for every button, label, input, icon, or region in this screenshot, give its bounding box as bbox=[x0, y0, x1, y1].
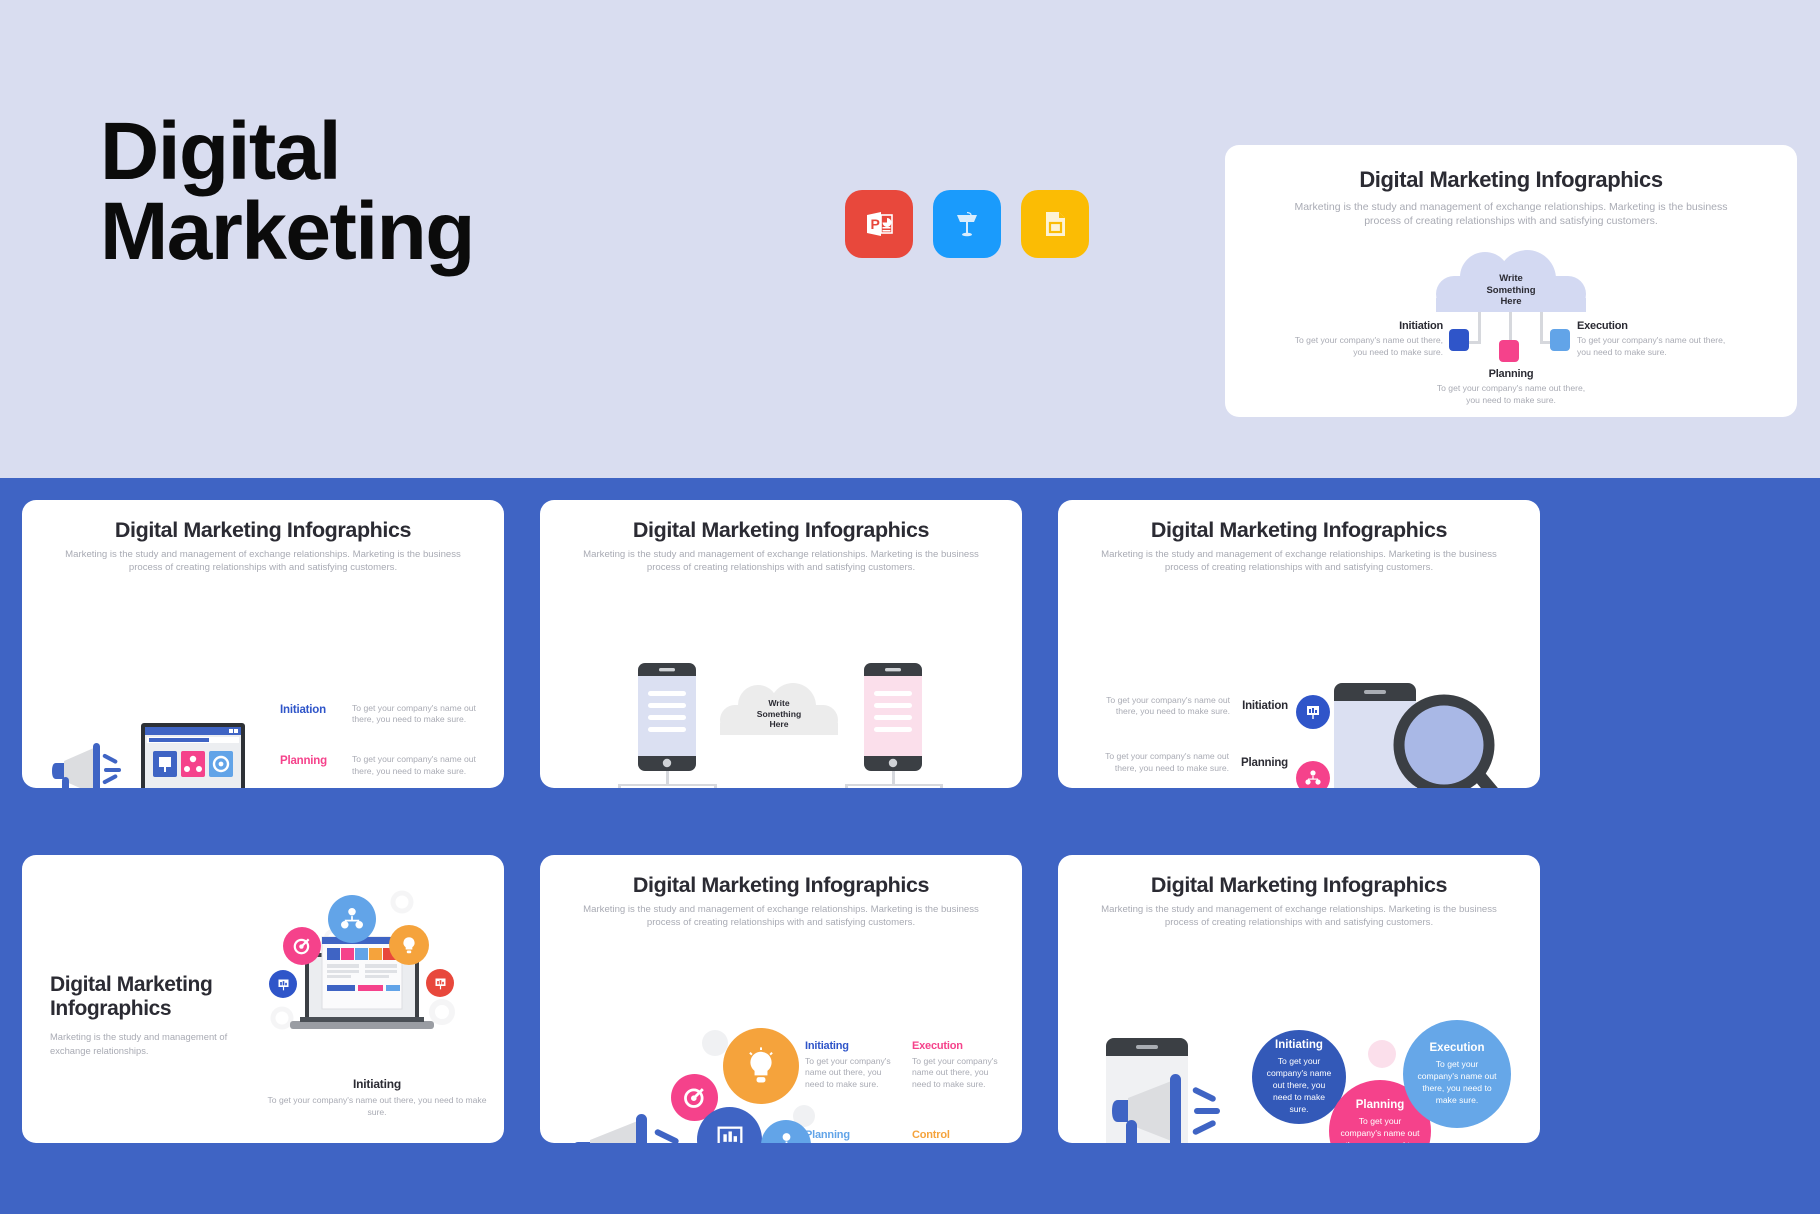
card4-title-line1: Digital Marketing bbox=[50, 973, 260, 997]
cell-label: Initiating bbox=[805, 1040, 898, 1052]
presentation-icon bbox=[426, 969, 454, 997]
bubble-label: Execution bbox=[1430, 1042, 1485, 1054]
phone-magnifier-illustration bbox=[1334, 675, 1509, 788]
row-desc: To get your company's name out there, yo… bbox=[352, 754, 495, 777]
node-desc: To get your company's name out there, yo… bbox=[1285, 335, 1443, 358]
card-title: Digital Marketing Infographics bbox=[22, 518, 504, 543]
card-title: Digital Marketing Infographics bbox=[1058, 518, 1540, 543]
cell-execution: Execution To get your company's name out… bbox=[912, 1040, 1005, 1091]
cell-label: Execution bbox=[912, 1040, 1005, 1052]
cloud-text-line3: Here bbox=[1500, 296, 1521, 308]
node-initiation: Initiation To get your company's name ou… bbox=[1285, 320, 1443, 358]
page-title-line1: Digital bbox=[100, 112, 720, 192]
connector-drop-left-1 bbox=[618, 784, 621, 788]
svg-text:P: P bbox=[871, 216, 880, 232]
card-title: Digital Marketing Infographics bbox=[540, 518, 1022, 543]
card4-footer: Initiating To get your company's name ou… bbox=[262, 1077, 492, 1118]
node-planning: Planning To get your company's name out … bbox=[1429, 368, 1593, 406]
phone-blue-illustration bbox=[638, 663, 696, 776]
infographic-card-1[interactable]: Digital Marketing Infographics Marketing… bbox=[22, 500, 504, 788]
cell-label: Planning bbox=[805, 1129, 898, 1141]
cloud-text-line3: Here bbox=[769, 719, 788, 730]
node-square-execution bbox=[1550, 329, 1570, 351]
row-planning: To get your company's name out there, yo… bbox=[1088, 751, 1288, 774]
cloud-text-line1: Write bbox=[768, 698, 789, 709]
infographic-card-4[interactable]: Digital Marketing Infographics Marketing… bbox=[22, 855, 504, 1143]
row-label: Planning bbox=[1241, 757, 1288, 769]
presentation-icon bbox=[1296, 695, 1330, 729]
org-chart-icon bbox=[1296, 761, 1330, 788]
row-desc: To get your company's name out there, yo… bbox=[1088, 695, 1230, 718]
bubble-label: Planning bbox=[1356, 1099, 1405, 1111]
deco-dot bbox=[702, 1030, 728, 1056]
cloud-text-line1: Write bbox=[1499, 273, 1523, 285]
card-subtitle: Marketing is the study and management of… bbox=[22, 549, 504, 575]
bubble-label: Initiating bbox=[1275, 1039, 1323, 1051]
footer-desc: To get your company's name out there, yo… bbox=[262, 1095, 492, 1118]
row-desc: To get your company's name out there, yo… bbox=[352, 703, 495, 726]
card5-cells: Initiating To get your company's name ou… bbox=[805, 1040, 1005, 1143]
row-label: Initiation bbox=[280, 703, 352, 716]
laptop-illustration bbox=[127, 723, 262, 788]
bubble-initiating[interactable]: Initiating To get your company's name ou… bbox=[1252, 1030, 1346, 1124]
infographic-card-3[interactable]: Digital Marketing Infographics Marketing… bbox=[1058, 500, 1540, 788]
app-format-icons: P bbox=[845, 190, 1089, 258]
card-title: Digital Marketing Infographics bbox=[540, 873, 1022, 898]
card-subtitle: Marketing is the study and management of… bbox=[540, 549, 1022, 575]
cloud-text-line2: Something bbox=[1486, 285, 1535, 297]
card4-subtitle: Marketing is the study and management of… bbox=[50, 1030, 240, 1057]
keynote-icon[interactable] bbox=[933, 190, 1001, 258]
infographic-card-6[interactable]: Digital Marketing Infographics Marketing… bbox=[1058, 855, 1540, 1143]
node-square-initiation bbox=[1449, 329, 1469, 351]
connector-drop-right-2 bbox=[940, 784, 943, 788]
megaphone-icon bbox=[572, 1108, 692, 1143]
node-label: Planning bbox=[1429, 368, 1593, 380]
page-title: Digital Marketing bbox=[100, 112, 720, 273]
page-title-line2: Marketing bbox=[100, 192, 720, 272]
connector-bar-left bbox=[618, 784, 716, 787]
row-initiation: To get your company's name out there, yo… bbox=[1088, 695, 1288, 718]
node-execution: Execution To get your company's name out… bbox=[1577, 320, 1737, 358]
bubble-execution[interactable]: Execution To get your company's name out… bbox=[1403, 1020, 1511, 1128]
card-title: Digital Marketing Infographics bbox=[1058, 873, 1540, 898]
google-slides-icon[interactable] bbox=[1021, 190, 1089, 258]
infographic-card-2[interactable]: Digital Marketing Infographics Marketing… bbox=[540, 500, 1022, 788]
bubble-desc: To get your company's name out there, yo… bbox=[1340, 1115, 1420, 1143]
phone-pink-illustration bbox=[864, 663, 922, 776]
bulb-icon bbox=[389, 925, 429, 965]
connector-stem-right bbox=[892, 771, 895, 785]
card4-title-line2: Infographics bbox=[50, 997, 260, 1021]
card3-icon-column bbox=[1296, 695, 1330, 788]
row-initiation: Initiation To get your company's name ou… bbox=[280, 703, 495, 726]
cell-planning: Planning To get your company's name out … bbox=[805, 1129, 898, 1143]
cloud-text-line2: Something bbox=[757, 709, 801, 720]
hero-preview-card[interactable]: Digital Marketing Infographics Marketing… bbox=[1225, 145, 1797, 417]
presentation-icon bbox=[269, 970, 297, 998]
powerpoint-icon[interactable]: P bbox=[845, 190, 913, 258]
target-icon bbox=[283, 927, 321, 965]
cell-control: Control To get your company's name out t… bbox=[912, 1129, 1005, 1143]
card-title: Digital Marketing Infographics bbox=[1225, 167, 1797, 193]
card3-rows: To get your company's name out there, yo… bbox=[1088, 695, 1288, 788]
node-square-planning bbox=[1499, 340, 1519, 362]
footer-label: Initiating bbox=[262, 1077, 492, 1091]
node-desc: To get your company's name out there, yo… bbox=[1577, 335, 1737, 358]
connector-stem-left bbox=[666, 771, 669, 785]
cell-desc: To get your company's name out there, yo… bbox=[912, 1056, 1005, 1091]
node-desc: To get your company's name out there, yo… bbox=[1429, 383, 1593, 406]
row-planning: Planning To get your company's name out … bbox=[280, 754, 495, 777]
row-desc: To get your company's name out there, yo… bbox=[1088, 751, 1229, 774]
connector-drop-left-2 bbox=[714, 784, 717, 788]
deco-dot bbox=[1368, 1040, 1396, 1068]
infographic-card-5[interactable]: Digital Marketing Infographics Marketing… bbox=[540, 855, 1022, 1143]
connector-drop-right-1 bbox=[845, 784, 848, 788]
card1-rows: Initiation To get your company's name ou… bbox=[280, 703, 495, 788]
phone-megaphone-illustration bbox=[1106, 1038, 1266, 1143]
bulb-icon bbox=[723, 1028, 799, 1104]
org-chart-icon bbox=[328, 895, 376, 943]
bubble-desc: To get your company's name out there, yo… bbox=[1415, 1058, 1499, 1106]
row-label: Initiation bbox=[1242, 700, 1288, 712]
connector-right bbox=[1540, 312, 1543, 344]
cloud-shape: Write Something Here bbox=[1436, 250, 1586, 312]
card-subtitle: Marketing is the study and management of… bbox=[1225, 200, 1797, 228]
connector-left bbox=[1478, 312, 1481, 344]
card-subtitle: Marketing is the study and management of… bbox=[540, 904, 1022, 930]
cell-desc: To get your company's name out there, yo… bbox=[805, 1056, 898, 1091]
megaphone-icon bbox=[52, 737, 122, 788]
row-label: Planning bbox=[280, 754, 352, 767]
cell-label: Control bbox=[912, 1129, 1005, 1141]
bubble-desc: To get your company's name out there, yo… bbox=[1262, 1055, 1335, 1115]
card-subtitle: Marketing is the study and management of… bbox=[1058, 549, 1540, 575]
node-label: Initiation bbox=[1285, 320, 1443, 332]
card-subtitle: Marketing is the study and management of… bbox=[1058, 904, 1540, 930]
connector-bar-right bbox=[845, 784, 943, 787]
node-label: Execution bbox=[1577, 320, 1737, 332]
cell-initiating: Initiating To get your company's name ou… bbox=[805, 1040, 898, 1091]
cloud-shape: Write Something Here bbox=[720, 683, 838, 735]
card4-title: Digital Marketing Infographics bbox=[50, 973, 260, 1021]
